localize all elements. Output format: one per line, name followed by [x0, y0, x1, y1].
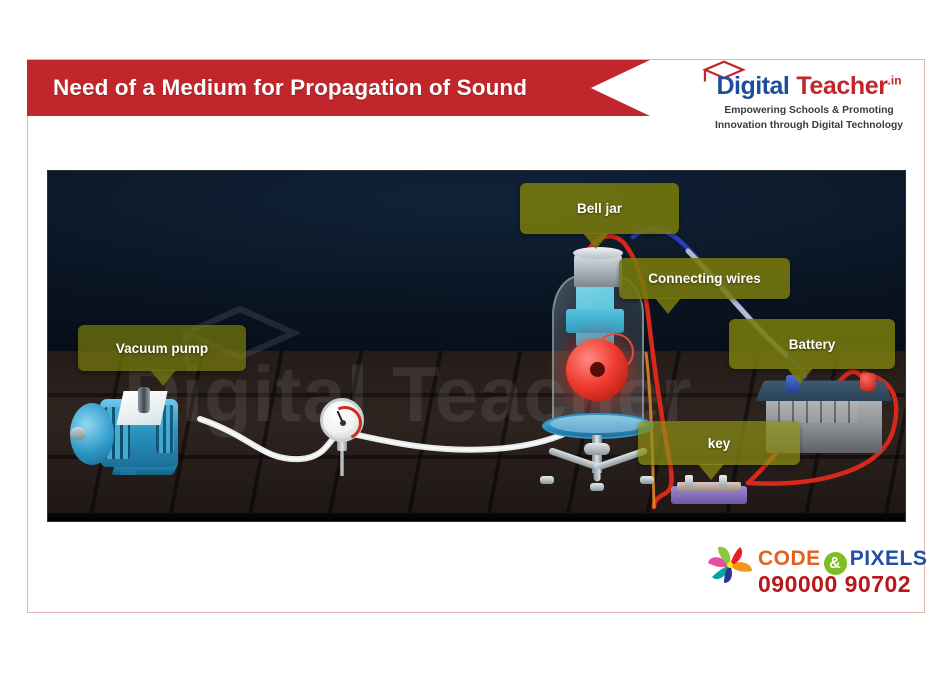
- label-pointer: [787, 368, 813, 384]
- tagline-line-2: Innovation through Digital Technology: [698, 119, 920, 134]
- logo-word-digital: Digital: [716, 72, 789, 100]
- stand-foot-left: [540, 476, 554, 484]
- label-key: key: [638, 421, 800, 465]
- gauge-pipe: [340, 450, 344, 476]
- vacuum-pump-motor: [64, 385, 196, 493]
- stand-knob: [584, 443, 610, 455]
- label-pointer: [698, 464, 724, 480]
- gauge-hub: [340, 420, 346, 426]
- logo-word-pixels: PIXELS: [850, 547, 928, 570]
- pinwheel-icon: [706, 545, 754, 585]
- stand-leg-center: [593, 467, 600, 481]
- jar-base-plate-top: [550, 415, 646, 433]
- digital-teacher-wordmark: Digital Teacher.in: [698, 74, 920, 99]
- contact-phone-number: 090000 90702: [758, 571, 911, 598]
- logo-word-teacher: Teacher: [796, 72, 887, 100]
- battery-positive-terminal: [860, 373, 876, 391]
- pressure-gauge: [320, 398, 364, 474]
- label-key-text: key: [708, 436, 731, 451]
- label-bell-jar-text: Bell jar: [577, 201, 622, 216]
- label-connecting-wires: Connecting wires: [619, 258, 790, 299]
- stand-foot-right: [640, 476, 654, 484]
- pump-knob: [138, 387, 150, 413]
- logo-word-code: CODE: [758, 547, 821, 570]
- bell-striker-arc: [596, 333, 634, 371]
- label-vacuum-pump-text: Vacuum pump: [116, 341, 208, 356]
- stand-foot-center: [590, 483, 604, 491]
- label-connecting-wires-text: Connecting wires: [648, 271, 761, 286]
- label-battery-text: Battery: [789, 337, 836, 352]
- label-pointer: [655, 298, 681, 314]
- label-pointer: [150, 370, 176, 386]
- gauge-dial: [320, 398, 364, 442]
- label-bell-jar: Bell jar: [520, 183, 679, 234]
- title-banner: Need of a Medium for Propagation of Soun…: [27, 60, 650, 116]
- tagline-line-1: Empowering Schools & Promoting: [698, 104, 920, 119]
- page-title: Need of a Medium for Propagation of Soun…: [53, 75, 527, 101]
- jar-inner-block-arm: [566, 309, 624, 333]
- label-battery: Battery: [729, 319, 895, 369]
- label-pointer: [583, 233, 609, 249]
- slide-page: Need of a Medium for Propagation of Soun…: [0, 0, 952, 673]
- key-post-left: [685, 475, 693, 488]
- battery-ribs: [778, 399, 858, 423]
- pump-shaft: [70, 427, 86, 440]
- logo-word-tld: .in: [888, 74, 902, 88]
- floor-edge: [48, 513, 905, 521]
- brand-tagline: Empowering Schools & Promoting Innovatio…: [698, 104, 920, 134]
- label-vacuum-pump: Vacuum pump: [78, 325, 246, 371]
- code-and-pixels-logo: CODE&PIXELS 090000 90702: [706, 543, 918, 605]
- digital-teacher-logo: Digital Teacher.in Empowering Schools & …: [698, 60, 920, 140]
- electrical-key-switch: [671, 478, 747, 504]
